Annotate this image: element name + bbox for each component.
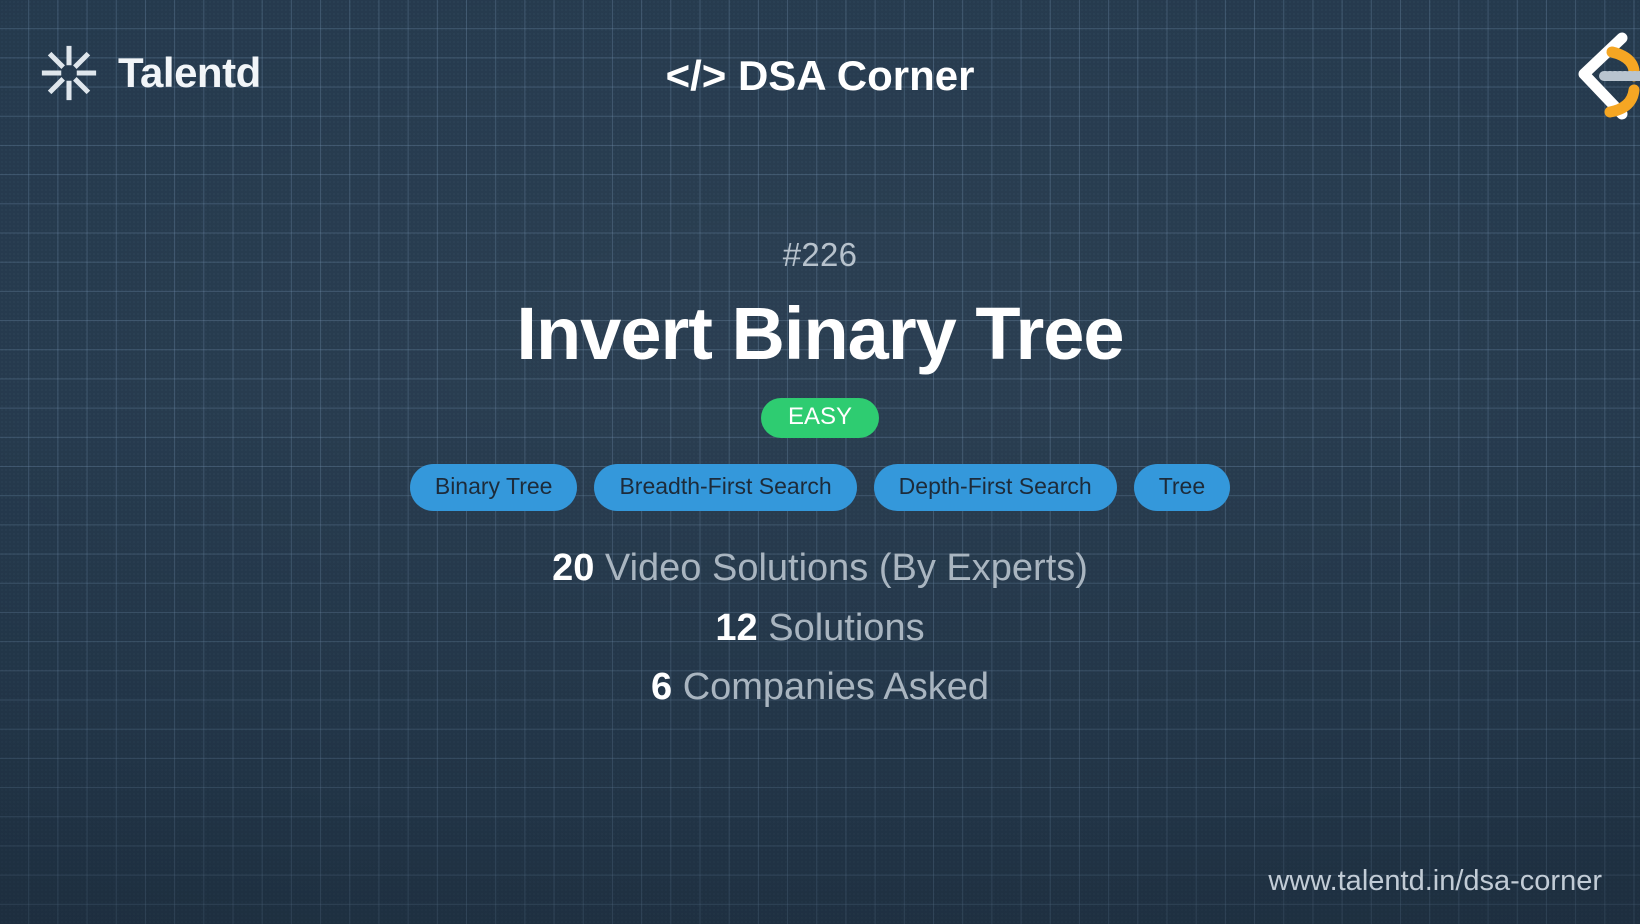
page-title: </> DSA Corner (0, 52, 1640, 100)
stat-value: 20 (552, 547, 594, 589)
stat-row: 6 Companies Asked (651, 664, 989, 710)
stat-label: Companies Asked (683, 666, 989, 708)
tag-list: Binary Tree Breadth-First Search Depth-F… (410, 464, 1230, 511)
stat-value: 12 (715, 607, 757, 649)
stat-value: 6 (651, 666, 672, 708)
stat-row: 20 Video Solutions (By Experts) (552, 545, 1088, 591)
main-content: #226 Invert Binary Tree EASY Binary Tree… (0, 150, 1640, 834)
stat-label: Video Solutions (By Experts) (605, 547, 1088, 589)
tag-chip[interactable]: Depth-First Search (874, 464, 1117, 511)
tag-chip[interactable]: Tree (1134, 464, 1230, 511)
stat-row: 12 Solutions (715, 605, 924, 651)
stats-list: 20 Video Solutions (By Experts) 12 Solut… (552, 545, 1088, 710)
tag-chip[interactable]: Binary Tree (410, 464, 578, 511)
footer-url[interactable]: www.talentd.in/dsa-corner (1268, 867, 1602, 896)
page-header: Talentd </> DSA Corner (0, 0, 1640, 152)
tag-chip[interactable]: Breadth-First Search (594, 464, 856, 511)
problem-title: Invert Binary Tree (516, 296, 1123, 371)
difficulty-badge: EASY (761, 398, 879, 438)
problem-number: #226 (783, 238, 858, 271)
code-bracket-orange-logo-icon (1538, 24, 1640, 128)
stat-label: Solutions (768, 607, 924, 649)
